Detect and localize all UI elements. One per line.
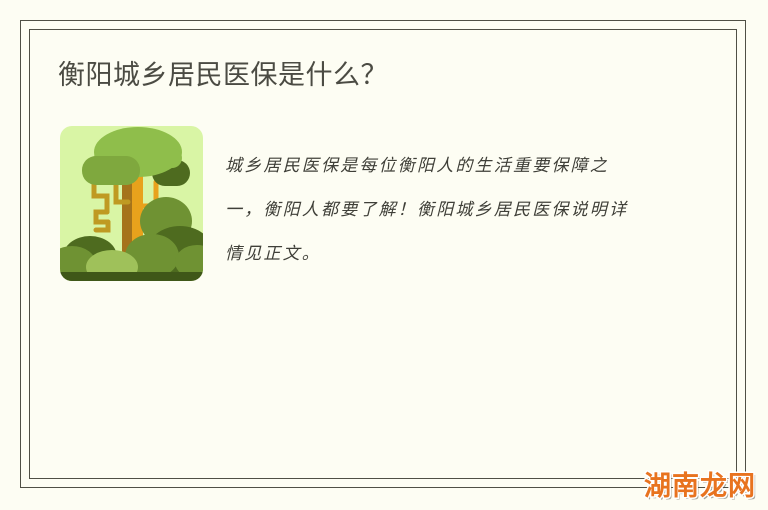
site-watermark: 湖南龙网 <box>644 473 756 500</box>
tree-icon <box>60 126 203 281</box>
article-body: 城乡居民医保是每位衡阳人的生活重要保障之一，衡阳人都要了解！衡阳城乡居民医保说明… <box>60 126 728 281</box>
article-container: 衡阳城乡居民医保是什么？ <box>40 40 728 470</box>
article-summary: 城乡居民医保是每位衡阳人的生活重要保障之一，衡阳人都要了解！衡阳城乡居民医保说明… <box>225 144 645 276</box>
tree-illustration-thumbnail[interactable] <box>60 126 203 281</box>
page-title: 衡阳城乡居民医保是什么？ <box>58 58 728 92</box>
